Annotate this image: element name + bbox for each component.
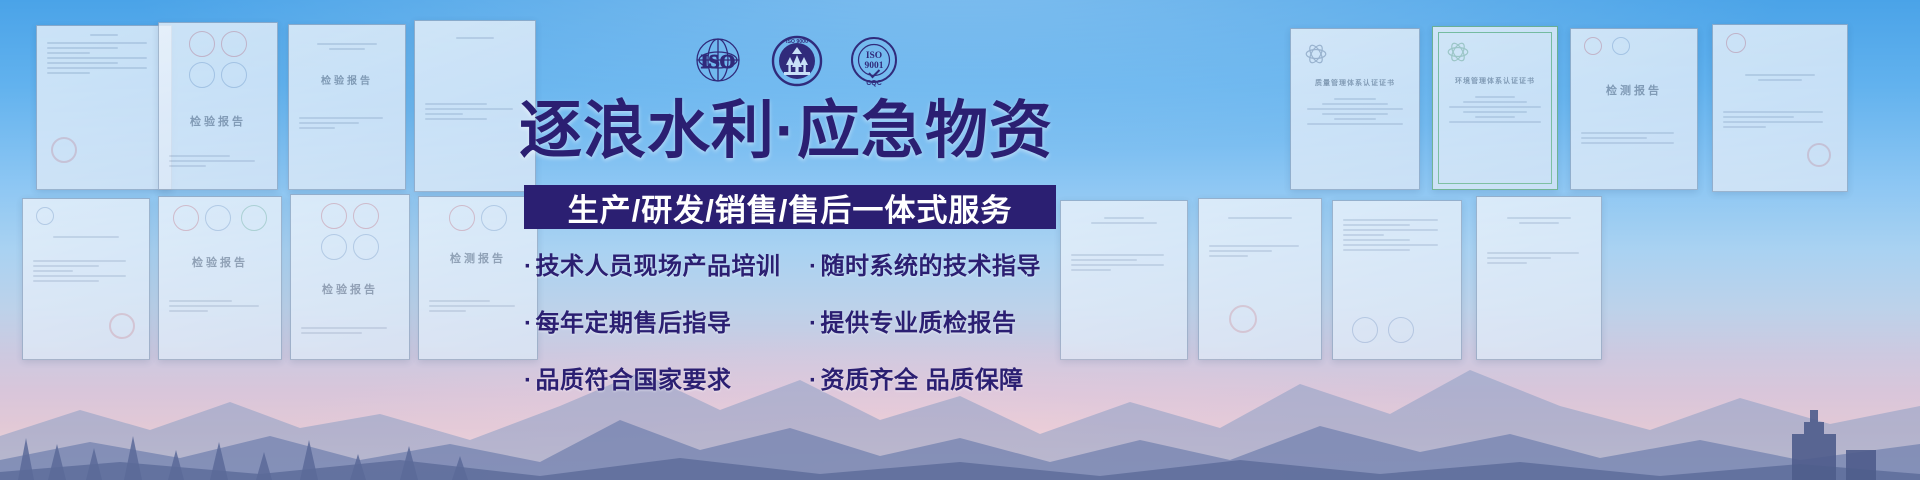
- banner-headline: 逐浪水利·应急物资: [506, 98, 1066, 164]
- certificate-title: 质量管理体系认证证书: [1301, 78, 1409, 88]
- bullet-dot-icon: ·: [524, 253, 533, 280]
- promo-banner: 检验报告 检验报告 ​: [0, 0, 1920, 480]
- certificate-title: 检测报告: [1581, 82, 1687, 98]
- banner-subtitle-text: 生产/研发/销售/售后一体式服务: [568, 185, 1013, 230]
- certificate-thumb: 质量管理体系认证证书: [1290, 28, 1420, 190]
- svg-text:CQC: CQC: [866, 80, 882, 87]
- svg-text:9001: 9001: [865, 61, 884, 71]
- bullet-dot-icon: ·: [809, 253, 818, 280]
- certificate-thumb: 检验报告: [288, 24, 406, 190]
- iso-9000-seal-logo: ISO 9000: [771, 35, 823, 87]
- feature-label: 每年定期售后指导: [536, 310, 732, 337]
- feature-label: 技术人员现场产品培训: [536, 253, 781, 280]
- feature-label: 品质符合国家要求: [536, 367, 732, 394]
- feature-item: ·品质符合国家要求: [524, 360, 809, 395]
- feature-label: 提供专业质检报告: [821, 310, 1017, 337]
- bullet-dot-icon: ·: [524, 310, 533, 337]
- certificate-title: 检验报告: [169, 254, 271, 270]
- feature-item: ·资质齐全 品质保障: [809, 360, 1064, 395]
- iso-globe-logo: ISO: [690, 35, 746, 87]
- certificate-thumb: [1712, 24, 1848, 192]
- bullet-dot-icon: ·: [809, 367, 818, 394]
- feature-item: ·技术人员现场产品培训: [524, 246, 809, 281]
- iso-9001-cqc-seal-logo: ISO 9001 CQC: [848, 35, 900, 87]
- certificate-title: ​: [425, 53, 525, 63]
- certificate-thumb: 环境管理体系认证证书: [1432, 26, 1558, 190]
- certificate-title: 检验报告: [169, 113, 267, 129]
- feature-list: ·技术人员现场产品培训 ·随时系统的技术指导 ·每年定期售后指导 ·提供专业质检…: [524, 246, 1064, 395]
- certificate-title: 检测报告: [429, 250, 527, 266]
- svg-text:ISO 9000: ISO 9000: [786, 39, 808, 45]
- feature-label: 资质齐全 品质保障: [821, 367, 1024, 394]
- certificate-thumb: 检测报告: [1570, 28, 1698, 190]
- feature-item: ·提供专业质检报告: [809, 303, 1064, 338]
- certification-logos: ISO ISO 9000 ISO 9001: [690, 33, 900, 89]
- certificate-thumb: 检验报告: [158, 22, 278, 190]
- certificate-title: 环境管理体系认证证书: [1443, 76, 1547, 86]
- svg-text:ISO: ISO: [701, 51, 735, 73]
- feature-item: ·每年定期售后指导: [524, 303, 809, 338]
- svg-text:ISO: ISO: [866, 51, 882, 61]
- bullet-dot-icon: ·: [524, 367, 533, 394]
- certificate-title: 检验报告: [301, 281, 399, 297]
- certificate-thumb: [36, 25, 172, 190]
- feature-label: 随时系统的技术指导: [821, 253, 1042, 280]
- banner-subtitle-bar: 生产/研发/销售/售后一体式服务: [524, 185, 1056, 229]
- atom-emblem-icon: [1301, 39, 1331, 69]
- atom-emblem-icon: [1443, 37, 1473, 67]
- certificate-title: 检验报告: [299, 72, 395, 87]
- feature-item: ·随时系统的技术指导: [809, 246, 1064, 281]
- bullet-dot-icon: ·: [809, 310, 818, 337]
